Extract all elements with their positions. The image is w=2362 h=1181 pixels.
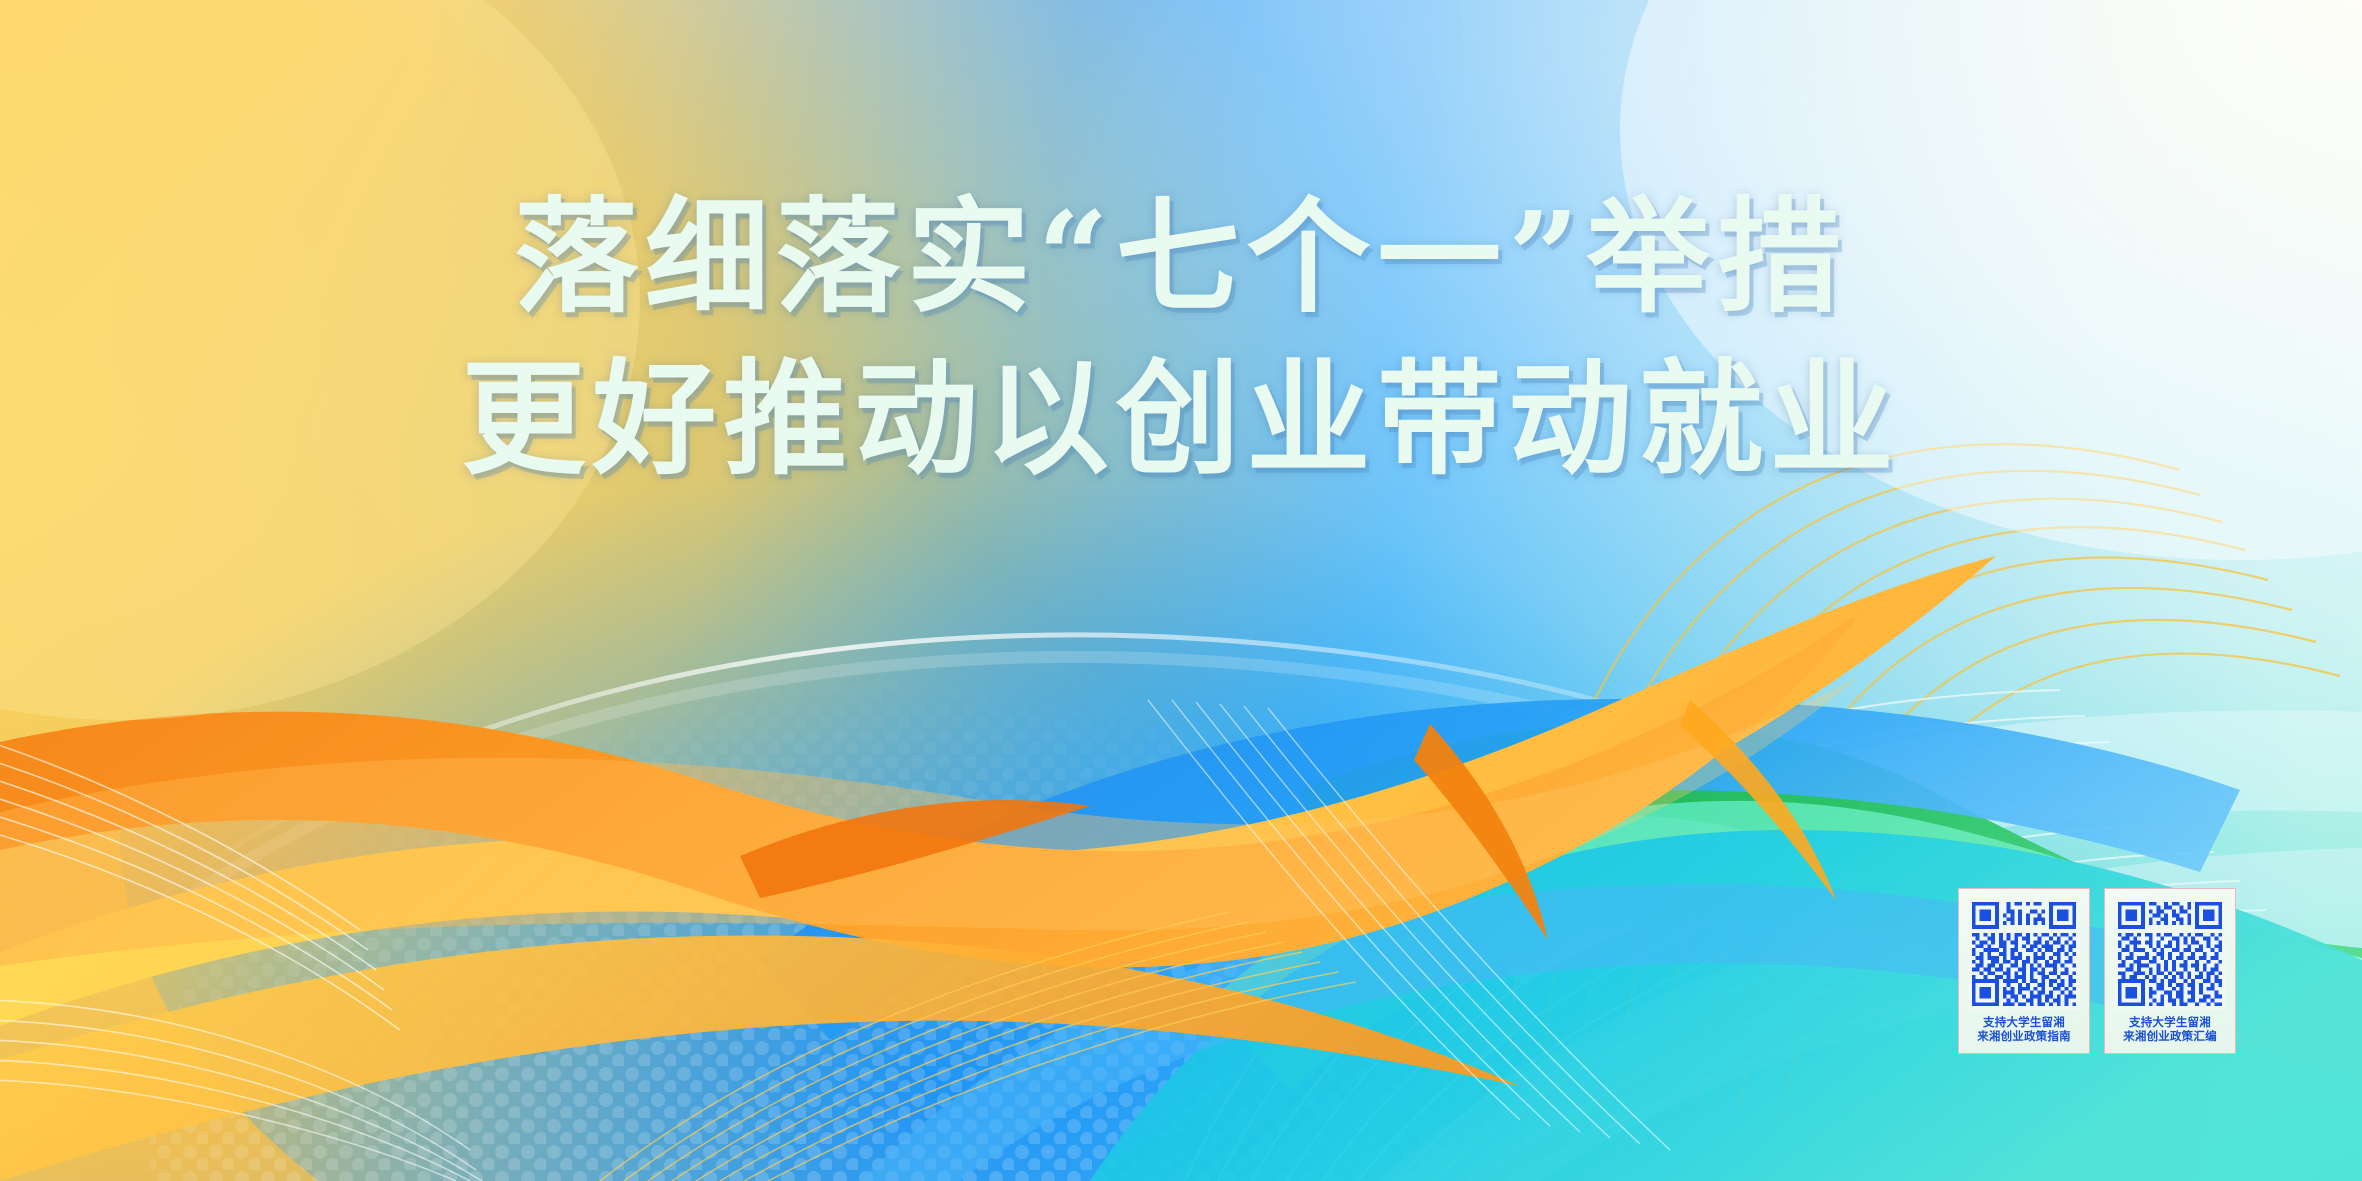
poster-banner: 落细落实“七个一”举措 更好推动以创业带动就业 [0,0,2362,1181]
qr-code-group: 支持大学生留湘 来湘创业政策指南 [1958,888,2236,1054]
orange-sliver-2 [1414,724,1548,940]
qr-caption-line-1: 支持大学生留湘 [2123,1015,2217,1029]
gold-line-fan-center [600,912,1356,1181]
orange-sliver-1 [740,800,1090,898]
ribbon-amber-long [0,556,1996,1026]
qr-card-policy-guide[interactable]: 支持大学生留湘 来湘创业政策指南 [1958,888,2090,1054]
qr-caption-line-2: 来湘创业政策指南 [1977,1029,2071,1043]
qr-caption-policy-compilation: 支持大学生留湘 来湘创业政策汇编 [2123,1015,2217,1043]
qr-caption-policy-guide: 支持大学生留湘 来湘创业政策指南 [1977,1015,2071,1043]
qr-caption-line-1: 支持大学生留湘 [1977,1015,2071,1029]
poster-title-block: 落细落实“七个一”举措 更好推动以创业带动就业 [0,196,2362,482]
poster-title-line-1: 落细落实“七个一”举措 [0,196,2362,320]
qr-caption-line-2: 来湘创业政策汇编 [2123,1029,2217,1043]
qr-card-policy-compilation[interactable]: 支持大学生留湘 来湘创业政策汇编 [2104,888,2236,1054]
ribbon-orange-glass [0,676,1860,966]
white-line-fan-left [0,742,400,1030]
poster-title-line-2: 更好推动以创业带动就业 [0,358,2362,482]
qr-code-icon[interactable] [1968,898,2080,1010]
globe-rim-highlight-soft [150,657,1830,925]
qr-code-icon[interactable] [2114,898,2226,1010]
orange-sliver-3 [1680,700,1836,900]
ribbon-orange-lower [0,935,1520,1181]
white-line-fan-left-lower [0,1000,482,1181]
globe-rim-highlight [150,635,1830,905]
ribbon-orange-main [0,612,1862,967]
halftone-globe [120,520,1880,1181]
pale-line-fan-diagonal [1148,700,1670,1150]
